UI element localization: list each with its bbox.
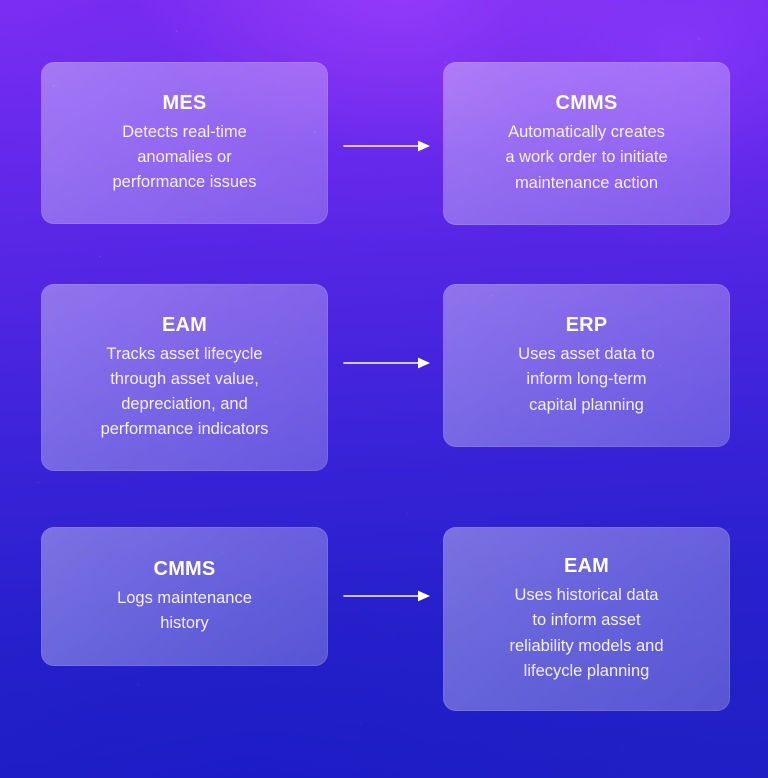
card-title: MES [163, 91, 207, 116]
card-body: Uses historical data to inform asset rel… [509, 583, 663, 683]
flow-card-row3-target[interactable]: EAM Uses historical data to inform asset… [443, 527, 730, 711]
flow-connector-row1 [340, 136, 434, 156]
arrow-right-icon [340, 586, 434, 606]
flow-card-row1-source[interactable]: MES Detects real-time anomalies or perfo… [41, 62, 328, 224]
flow-connector-row2 [340, 353, 434, 373]
card-title: CMMS [154, 557, 216, 582]
flow-card-row3-source[interactable]: CMMS Logs maintenance history [41, 527, 328, 666]
card-body: Automatically creates a work order to in… [505, 120, 667, 195]
card-title: ERP [566, 313, 608, 338]
arrow-right-icon [340, 136, 434, 156]
card-body: Uses asset data to inform long-term capi… [518, 342, 655, 417]
flow-card-row1-target[interactable]: CMMS Automatically creates a work order … [443, 62, 730, 225]
card-title: CMMS [556, 91, 618, 116]
card-title: EAM [162, 313, 207, 338]
card-body: Logs maintenance history [117, 586, 252, 636]
flow-card-row2-source[interactable]: EAM Tracks asset lifecycle through asset… [41, 284, 328, 471]
card-body: Tracks asset lifecycle through asset val… [101, 342, 269, 442]
flow-card-row2-target[interactable]: ERP Uses asset data to inform long-term … [443, 284, 730, 447]
card-body: Detects real-time anomalies or performan… [113, 120, 257, 195]
flow-connector-row3 [340, 586, 434, 606]
card-title: EAM [564, 554, 609, 579]
diagram-canvas: MES Detects real-time anomalies or perfo… [0, 0, 768, 778]
arrow-right-icon [340, 353, 434, 373]
